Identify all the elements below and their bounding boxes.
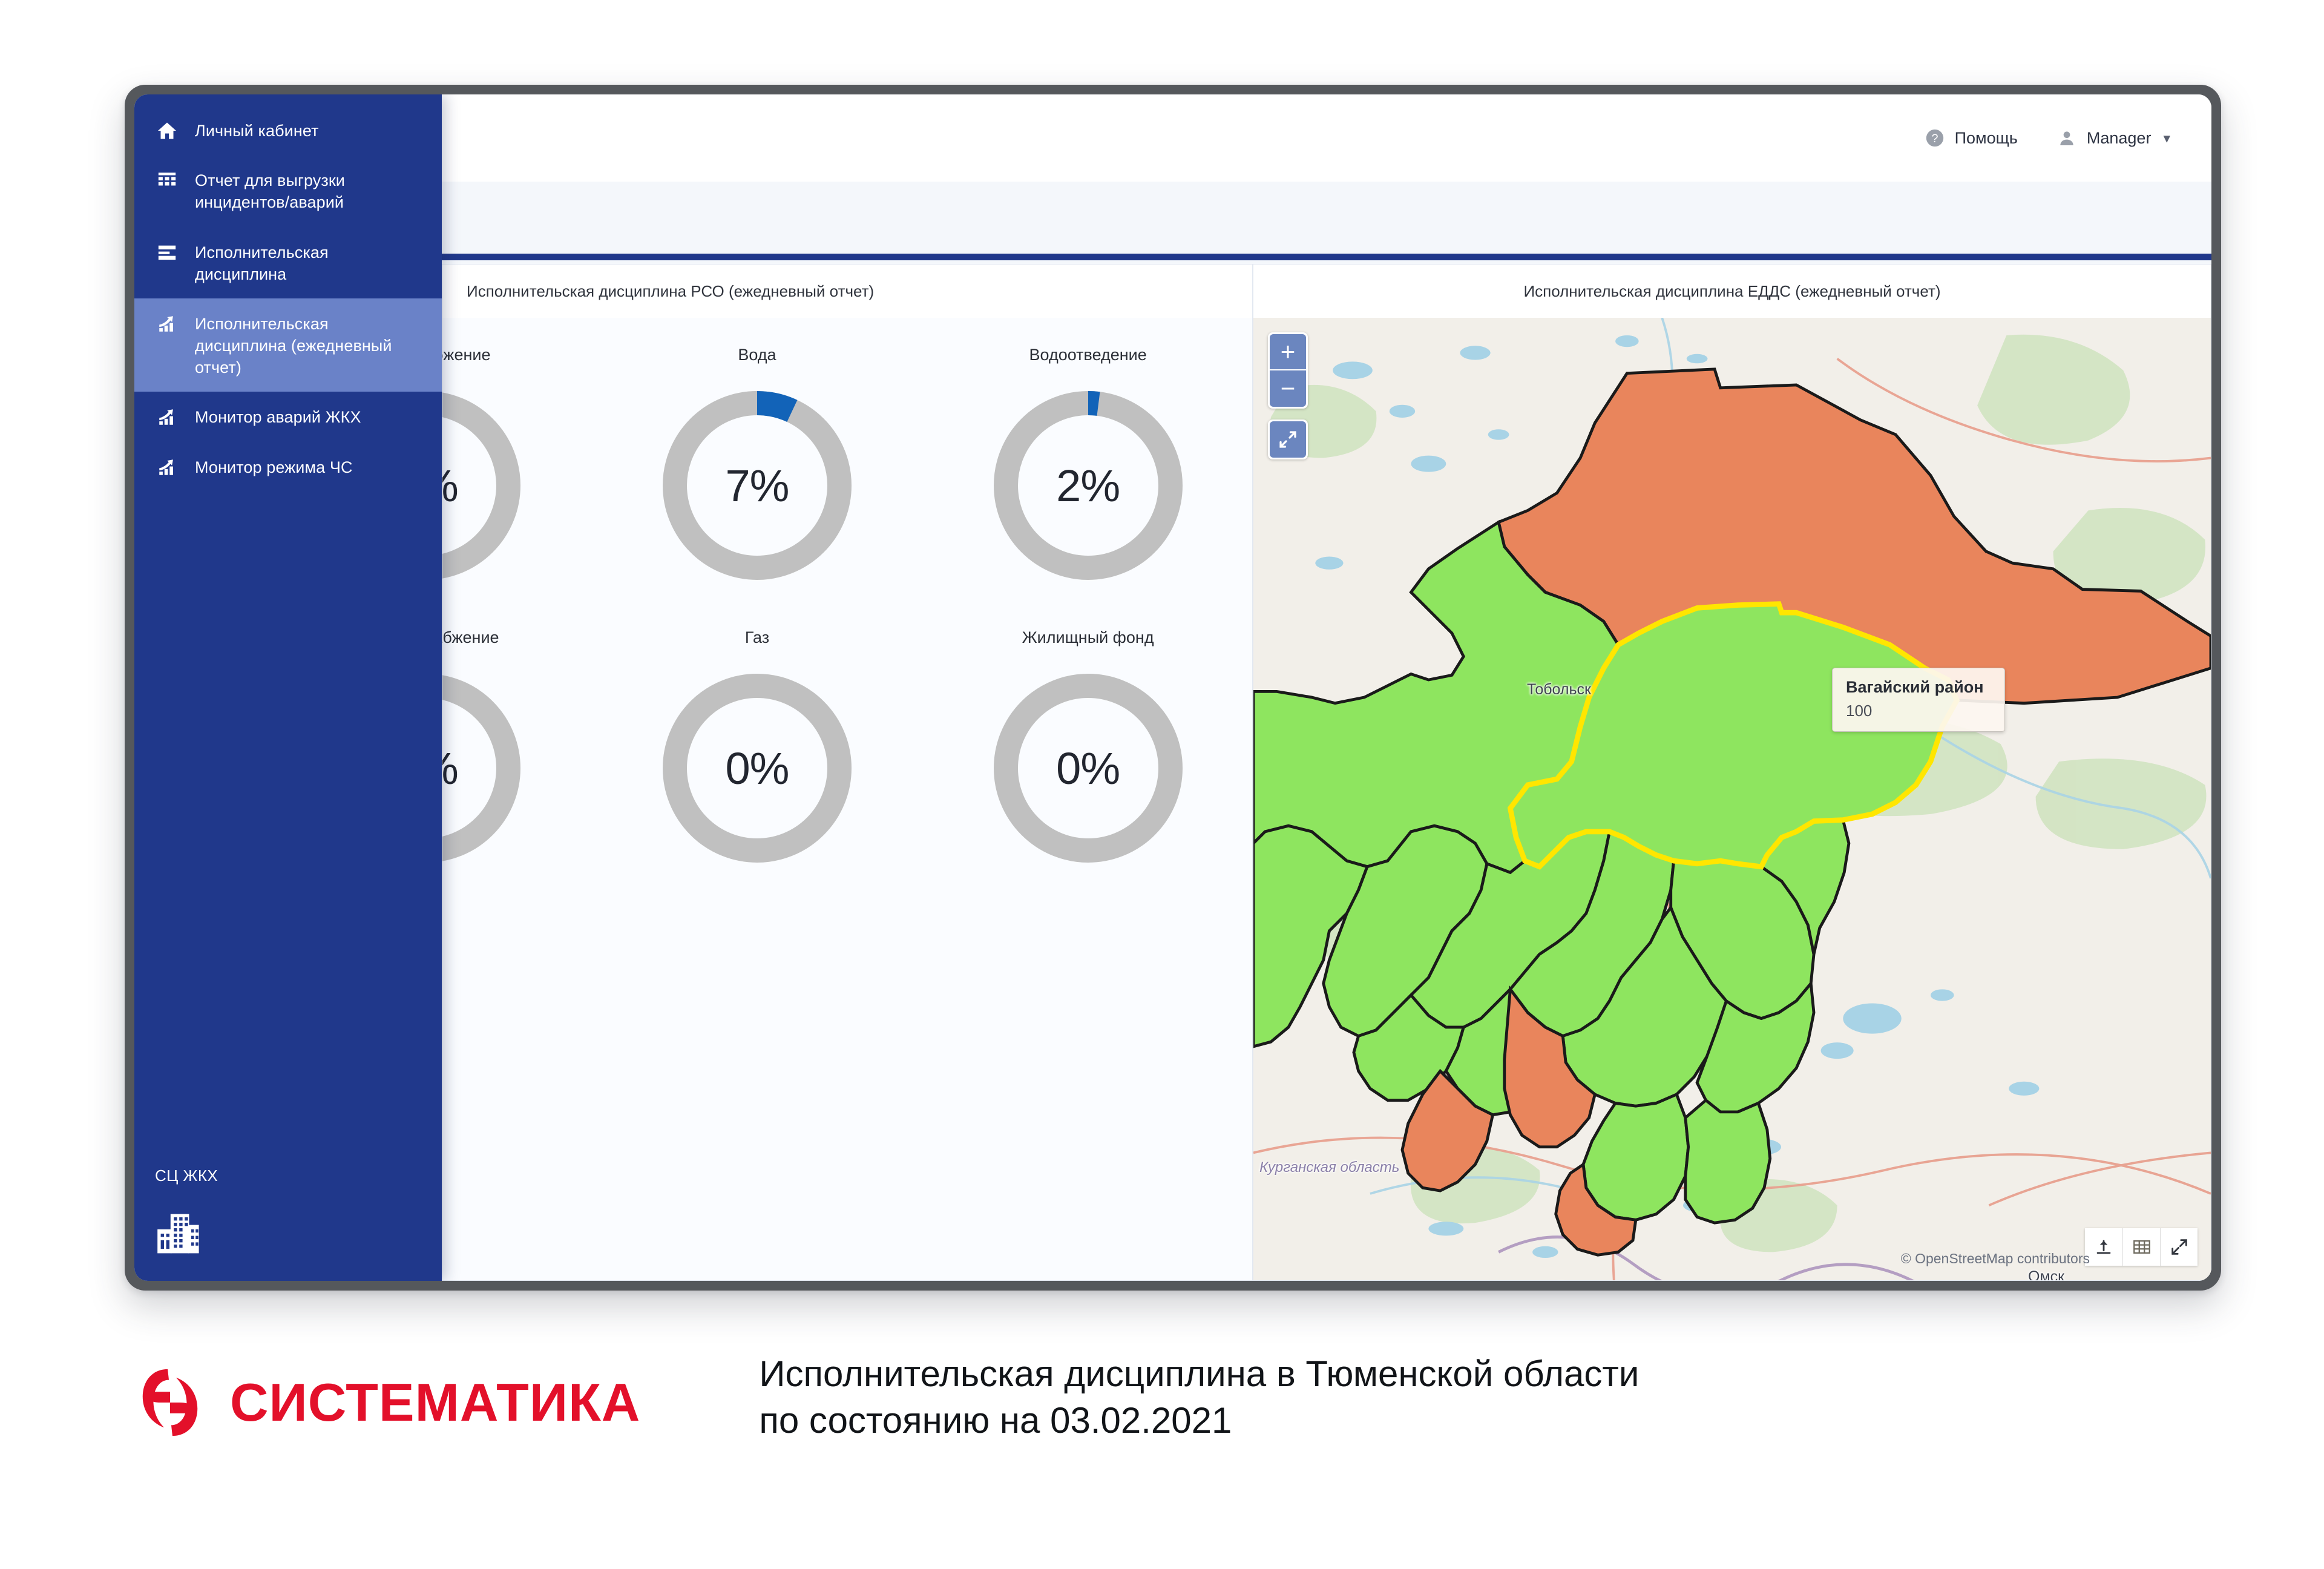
sidebar-item-2[interactable]: Отчет для выгрузки инцидентов/аварий <box>134 155 442 226</box>
main-column: ? Помощь Manager ▾ <box>442 94 2211 1281</box>
sidebar-footer-title: СЦ ЖКХ <box>155 1166 421 1185</box>
donut-value: 0% <box>985 665 1191 871</box>
sidebar-item-label: Исполнительская дисциплина (ежедневный о… <box>195 312 395 379</box>
panel-edds: Исполнительская дисциплина ЕДДС (ежеднев… <box>1253 264 2211 1281</box>
sidebar-item-3[interactable]: Исполнительская дисциплина <box>134 227 442 298</box>
map-attribution[interactable]: © OpenStreetMap contributors <box>1901 1251 2090 1267</box>
panel-rso-title: Исполнительская дисциплина РСО (ежедневн… <box>442 265 1252 318</box>
donut-chart[interactable]: 0% <box>654 665 860 871</box>
donut-label: Водоотведение <box>1029 346 1147 364</box>
systematica-logo-icon <box>134 1366 206 1439</box>
donut-card-3: Водоотведение2% <box>985 346 1191 588</box>
map-tools <box>2085 1228 2198 1266</box>
sidebar: Личный кабинетОтчет для выгрузки инциден… <box>134 94 442 1281</box>
sidebar-item-5[interactable]: Монитор аварий ЖКХ <box>134 392 442 441</box>
donut-grid: Теплоснабжение0%Вода7%Водоотведение2%Эле… <box>442 346 1252 871</box>
map-place-kurganskaya-oblast: Курганская область <box>1259 1159 1362 1177</box>
caption-line-1: Исполнительская дисциплина в Тюменской о… <box>759 1351 1639 1398</box>
map-tooltip-title: Вагайский район <box>1846 678 1984 697</box>
donut-label: Электроснабжение <box>442 628 499 647</box>
panel-edds-body: Тобольск Петропавловск Омск Курганская о… <box>1253 318 2211 1280</box>
export-icon[interactable] <box>2085 1228 2122 1266</box>
panel-edds-title: Исполнительская дисциплина ЕДДС (ежеднев… <box>1253 265 2211 318</box>
app-window: ? Помощь Manager ▾ <box>134 94 2211 1281</box>
map-zoom-controls: + − <box>1268 332 1308 409</box>
user-menu-button[interactable]: Manager ▾ <box>2056 128 2170 148</box>
donut-chart[interactable]: 0% <box>442 383 529 588</box>
map-tooltip: Вагайский район 100 <box>1832 668 2005 732</box>
donut-card-4: Электроснабжение0% <box>442 628 529 871</box>
chevron-down-icon[interactable]: ▾ <box>2163 130 2170 146</box>
page-caption: Исполнительская дисциплина в Тюменской о… <box>759 1351 1639 1444</box>
help-label: Помощь <box>1955 129 2018 148</box>
donut-value: 0% <box>654 665 860 871</box>
donut-card-6: Жилищный фонд0% <box>985 628 1191 871</box>
brand-block: СИСТЕМАТИКА <box>134 1366 640 1439</box>
svg-text:?: ? <box>1931 132 1938 145</box>
sidebar-nav-list: Личный кабинетОтчет для выгрузки инциден… <box>134 94 442 492</box>
sidebar-item-6[interactable]: Монитор режима ЧС <box>134 442 442 492</box>
sidebar-spacer <box>134 492 442 1166</box>
donut-chart[interactable]: 7% <box>654 383 860 588</box>
buildings-icon <box>155 1212 206 1255</box>
donut-label: Газ <box>745 628 769 647</box>
list-rows-icon <box>155 242 179 263</box>
map-place-tobolsk: Тобольск <box>1527 681 1591 699</box>
page-root: ? Помощь Manager ▾ <box>0 0 2324 1569</box>
map-canvas <box>1253 318 2211 1280</box>
donut-value: 2% <box>985 383 1191 588</box>
caption-line-2: по состоянию на 03.02.2021 <box>759 1398 1639 1444</box>
donut-card-1: Теплоснабжение0% <box>442 346 529 588</box>
home-icon <box>155 120 179 142</box>
donut-value: 7% <box>654 383 860 588</box>
map-place-petropavlovsk: Петропавловск <box>1556 1279 1663 1280</box>
app-window-frame: ? Помощь Manager ▾ <box>125 85 2221 1291</box>
chart-growth-icon <box>155 313 179 335</box>
sidebar-item-4[interactable]: Исполнительская дисциплина (ежедневный о… <box>134 298 442 392</box>
panels-area: Исполнительская дисциплина РСО (ежедневн… <box>442 260 2211 1281</box>
user-label: Manager <box>2087 129 2152 148</box>
help-button[interactable]: ? Помощь <box>1925 128 2018 148</box>
donut-chart[interactable]: 0% <box>442 665 529 871</box>
map-place-omsk: Омск <box>2028 1268 2064 1280</box>
chart-growth-icon <box>155 456 179 478</box>
sidebar-item-label: Личный кабинет <box>195 119 319 142</box>
donut-label: Вода <box>738 346 776 364</box>
fullscreen-icon[interactable] <box>2160 1228 2198 1266</box>
map-expand-control <box>1268 419 1308 459</box>
donut-card-2: Вода7% <box>654 346 860 588</box>
panel-rso-body: Теплоснабжение0%Вода7%Водоотведение2%Эле… <box>442 318 1252 1280</box>
app-header: ? Помощь Manager ▾ <box>442 94 2211 182</box>
zoom-in-button[interactable]: + <box>1270 334 1306 370</box>
donut-label: Жилищный фонд <box>1022 628 1154 647</box>
sidebar-item-label: Монитор режима ЧС <box>195 455 353 478</box>
panel-rso: Исполнительская дисциплина РСО (ежедневн… <box>442 264 1253 1281</box>
brand-name: СИСТЕМАТИКА <box>230 1376 640 1429</box>
expand-arrows-icon[interactable] <box>1270 421 1306 458</box>
donut-card-5: Газ0% <box>654 628 860 871</box>
sidebar-item-1[interactable]: Личный кабинет <box>134 105 442 155</box>
question-circle-icon: ? <box>1925 128 1945 148</box>
chart-growth-icon <box>155 406 179 428</box>
donut-chart[interactable]: 0% <box>985 665 1191 871</box>
donut-value: 0% <box>442 383 529 588</box>
grid-table-icon <box>155 169 179 191</box>
donut-chart[interactable]: 2% <box>985 383 1191 588</box>
donut-value: 0% <box>442 665 529 871</box>
donut-label: Теплоснабжение <box>442 346 491 364</box>
user-avatar-icon <box>2056 128 2077 148</box>
toolbar-strip <box>442 182 2211 260</box>
sidebar-footer: СЦ ЖКХ <box>134 1166 442 1281</box>
choropleth-map[interactable]: Тобольск Петропавловск Омск Курганская о… <box>1253 318 2211 1280</box>
table-icon[interactable] <box>2122 1228 2160 1266</box>
sidebar-item-label: Исполнительская дисциплина <box>195 240 395 285</box>
footer: СИСТЕМАТИКА Исполнительская дисциплина в… <box>0 1338 2324 1538</box>
zoom-out-button[interactable]: − <box>1270 370 1306 407</box>
sidebar-item-label: Отчет для выгрузки инцидентов/аварий <box>195 168 395 213</box>
sidebar-item-label: Монитор аварий ЖКХ <box>195 405 361 428</box>
map-tooltip-value: 100 <box>1846 702 1984 720</box>
